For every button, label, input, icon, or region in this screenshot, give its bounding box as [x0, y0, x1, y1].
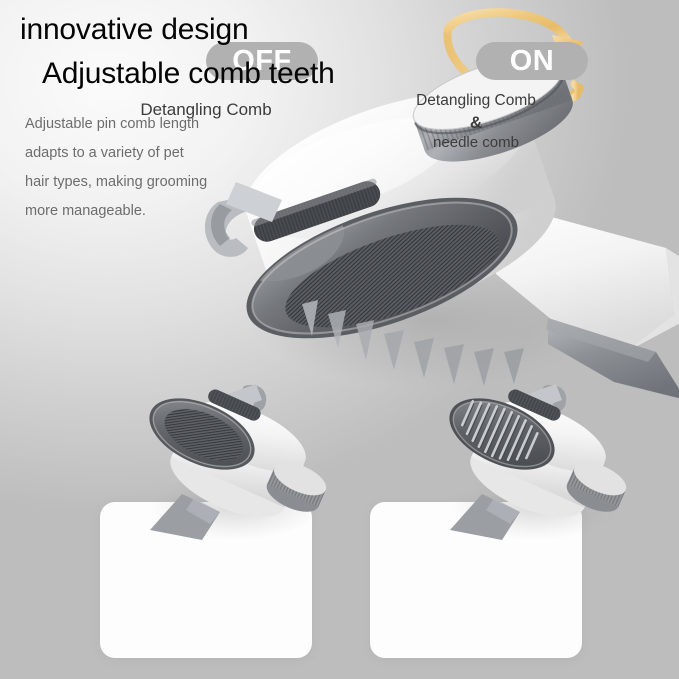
small-device-on [428, 372, 643, 547]
headline-line-2: Adjustable comb teeth [20, 52, 420, 96]
body-line-4: more manageable. [25, 197, 260, 226]
copy-block: innovative design Adjustable comb teeth … [20, 8, 420, 226]
small-device-off [128, 372, 343, 547]
body-line-1: Adjustable pin comb length [25, 110, 260, 139]
headline-line-1: innovative design [20, 8, 420, 52]
product-feature-image: innovative design Adjustable comb teeth … [0, 0, 679, 679]
state-badge-on: ON [476, 42, 588, 80]
body-line-2: adapts to a variety of pet [25, 139, 260, 168]
state-badge-on-label: ON [510, 45, 555, 78]
body-line-3: hair types, making grooming [25, 168, 260, 197]
body-paragraph: Adjustable pin comb length adapts to a v… [20, 110, 260, 226]
